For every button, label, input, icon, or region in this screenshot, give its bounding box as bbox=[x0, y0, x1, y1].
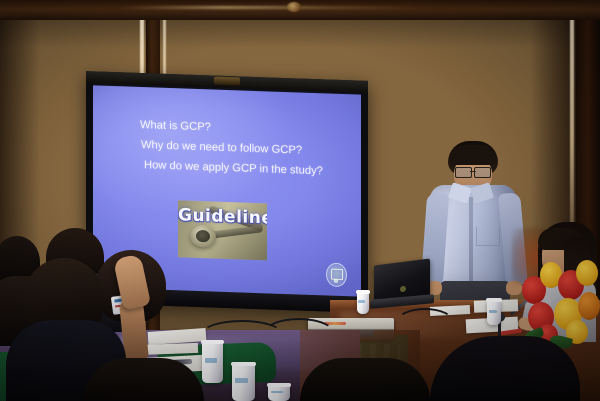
cable bbox=[262, 318, 336, 352]
flower-yellow bbox=[576, 260, 598, 286]
paper-cup bbox=[202, 342, 223, 383]
paper-cup bbox=[357, 292, 369, 314]
ceiling-fixture-icon bbox=[287, 2, 301, 12]
cable bbox=[396, 308, 454, 336]
audience-head-foreground bbox=[300, 358, 430, 401]
screen-border-right bbox=[361, 93, 368, 313]
seminar-photo-scene: What is GCP? Why do we need to follow GC… bbox=[0, 0, 600, 401]
screen-mount-bracket bbox=[214, 77, 240, 86]
paper-cup bbox=[268, 385, 290, 401]
paper-cup bbox=[487, 300, 501, 325]
slide-line-1: What is GCP? bbox=[140, 119, 211, 133]
presenter-shirt-pocket bbox=[476, 227, 500, 246]
presenter-fringe bbox=[450, 145, 496, 165]
eyeglasses-icon bbox=[454, 167, 492, 176]
flower-bouquet bbox=[520, 258, 600, 348]
ceiling-wood-trim bbox=[0, 0, 600, 20]
ceiling-highlight bbox=[120, 6, 420, 9]
laptop bbox=[374, 262, 430, 308]
guidelines-image: Guidelines bbox=[178, 200, 267, 260]
paper-cup bbox=[232, 364, 255, 401]
flower-orange bbox=[578, 292, 600, 320]
presenter-shirt-placket bbox=[469, 197, 473, 285]
institution-logo-icon bbox=[326, 262, 347, 287]
guidelines-caption: Guidelines bbox=[178, 205, 267, 228]
